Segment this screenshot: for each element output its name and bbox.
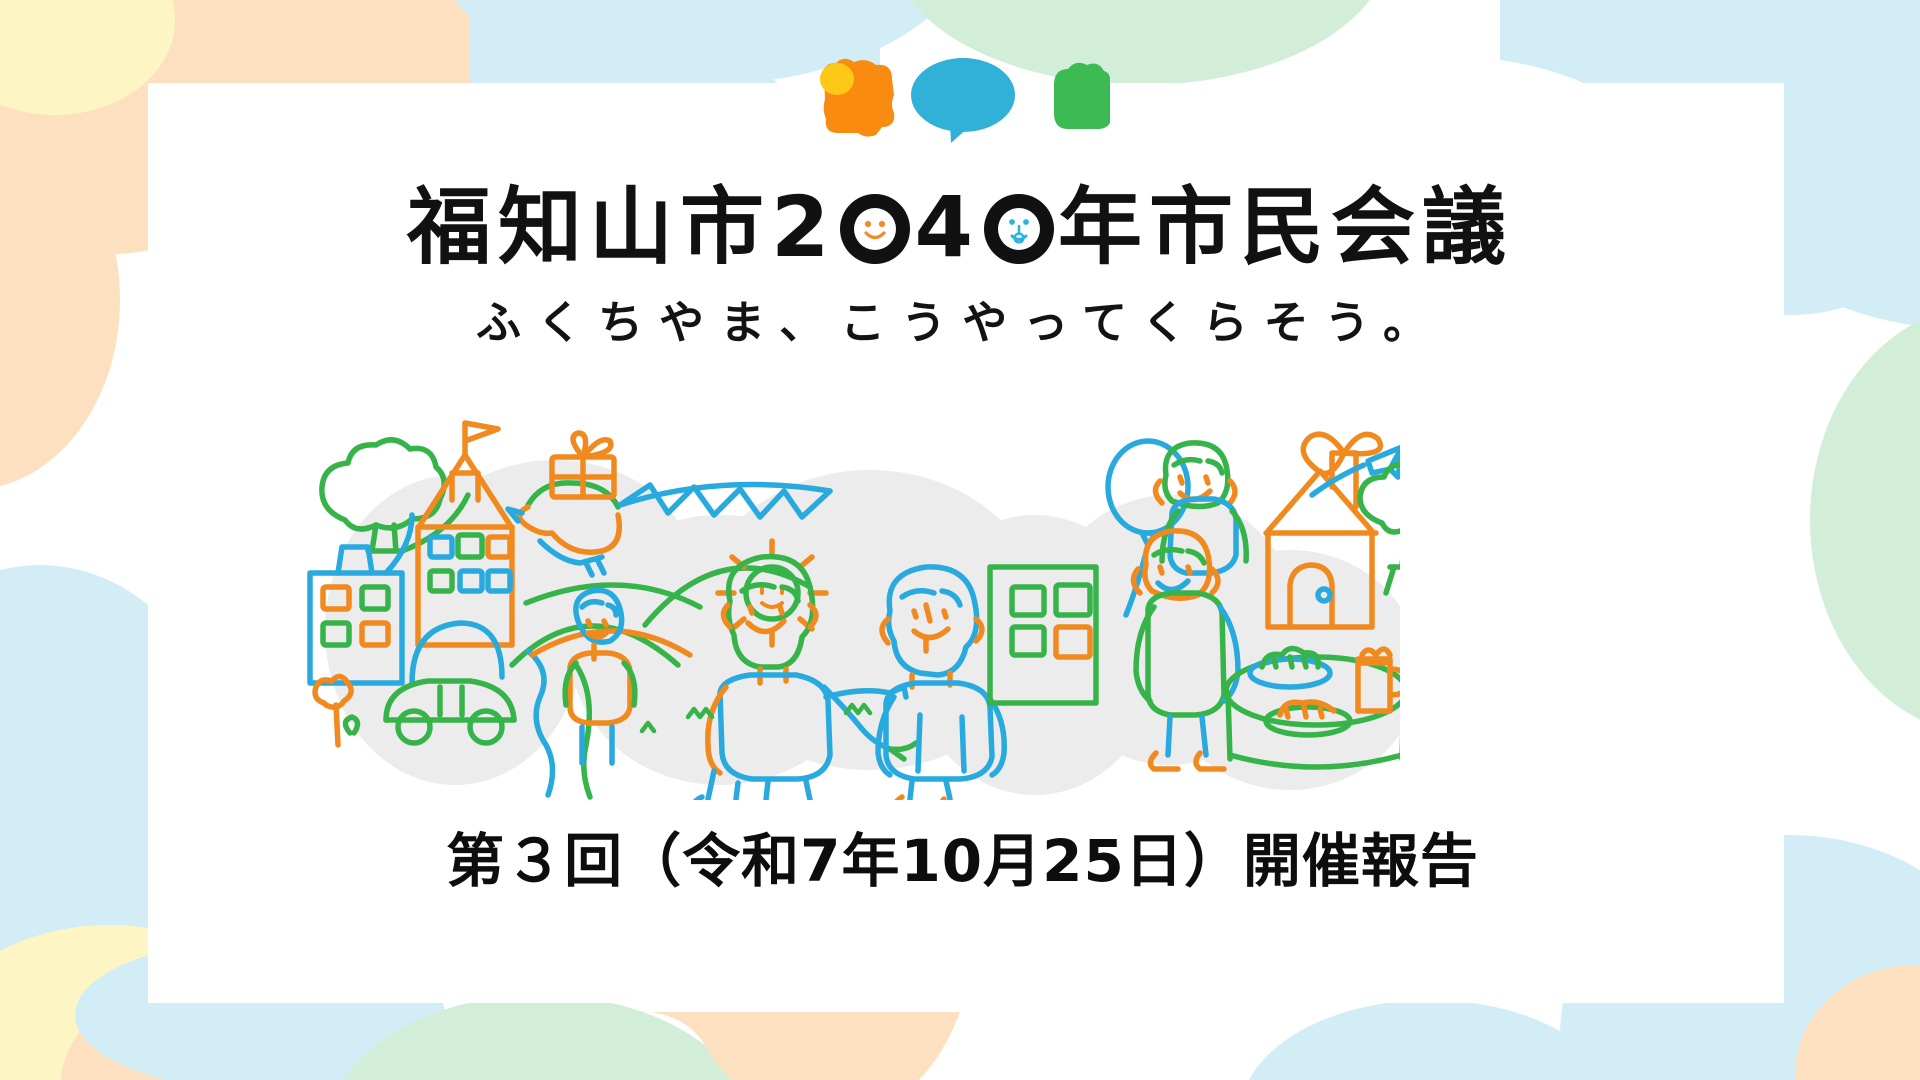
title-part-1: 福知山市2 xyxy=(407,180,836,274)
zero-baby-svg xyxy=(980,185,1058,269)
baby-eye-left xyxy=(1009,219,1015,225)
blob-right-green xyxy=(1810,305,1920,735)
page-title: 福知山市2 4 年市民会議 xyxy=(407,180,1513,274)
session-banner: 第３回（令和7年10月25日）開催報告 xyxy=(340,812,1585,900)
title-part-4: 4 xyxy=(914,180,979,274)
zero-smiley-face xyxy=(836,185,914,269)
zero-smiley-svg xyxy=(836,185,914,269)
blue-bubble-tail xyxy=(950,123,970,143)
orange-bubble-dot xyxy=(820,63,854,95)
illustration-svg xyxy=(290,415,1400,800)
blue-bubble xyxy=(911,58,1015,132)
zero-baby-face xyxy=(980,185,1058,269)
title-block: 福知山市2 4 年市民会議 ふくちやま、こうやってくらそう。 xyxy=(0,180,1920,351)
smiley-eye-right xyxy=(879,221,885,227)
community-doodle-illustration xyxy=(290,415,1400,800)
green-bubble xyxy=(1054,63,1110,129)
page-subtitle: ふくちやま、こうやってくらそう。 xyxy=(0,286,1920,351)
smiley-eye-left xyxy=(865,221,871,227)
title-part-6: 年市民会議 xyxy=(1058,180,1513,274)
session-banner-text: 第３回（令和7年10月25日）開催報告 xyxy=(446,814,1479,898)
logo-bubbles xyxy=(810,51,1110,143)
logo xyxy=(0,55,1920,143)
sprout xyxy=(345,717,357,733)
zero-inner-hole xyxy=(854,208,896,250)
baby-eye-right xyxy=(1023,219,1029,225)
